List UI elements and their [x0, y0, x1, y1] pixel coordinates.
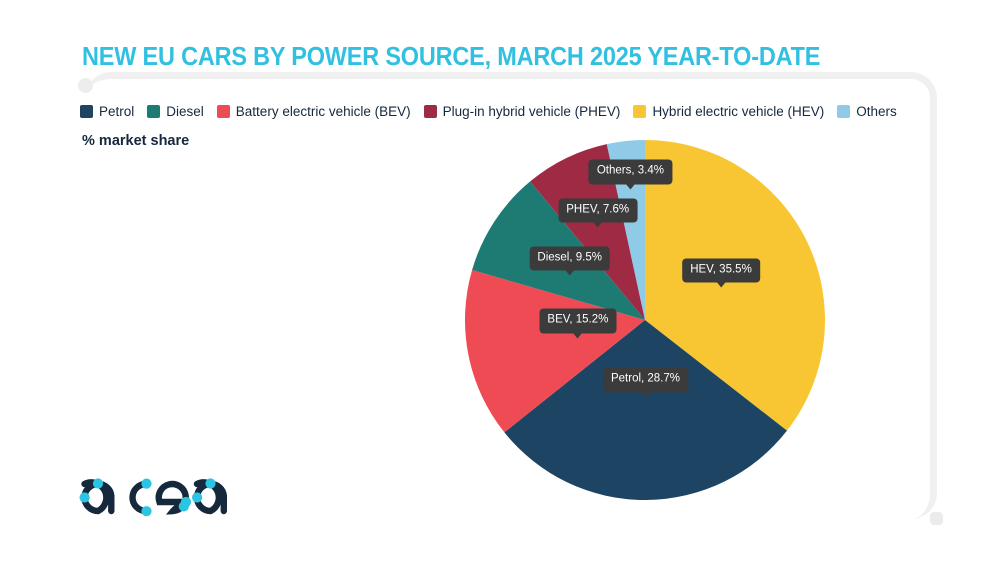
legend-swatch-others: [837, 105, 850, 118]
legend-item-hev[interactable]: Hybrid electric vehicle (HEV): [633, 105, 824, 119]
chart-legend: Petrol Diesel Battery electric vehicle (…: [80, 105, 910, 119]
pie-chart: HEV, 35.5% Petrol, 28.7% BEV, 15.2% Dies…: [465, 140, 825, 500]
pie-label-bev: BEV, 15.2%: [539, 309, 616, 334]
frame-dot-top-left: [78, 78, 93, 93]
legend-label-phev: Plug-in hybrid vehicle (PHEV): [443, 105, 621, 119]
legend-item-bev[interactable]: Battery electric vehicle (BEV): [217, 105, 411, 119]
legend-label-others: Others: [856, 105, 897, 119]
acea-logo: [78, 462, 230, 524]
legend-item-petrol[interactable]: Petrol: [80, 105, 134, 119]
pie-slice-group: [465, 140, 825, 500]
legend-swatch-diesel: [147, 105, 160, 118]
legend-label-diesel: Diesel: [166, 105, 204, 119]
pie-label-phev: PHEV, 7.6%: [558, 198, 637, 223]
pie-label-petrol: Petrol, 28.7%: [603, 368, 688, 393]
legend-label-hev: Hybrid electric vehicle (HEV): [652, 105, 824, 119]
page-title: NEW EU CARS BY POWER SOURCE, MARCH 2025 …: [82, 43, 820, 72]
legend-item-others[interactable]: Others: [837, 105, 897, 119]
pie-label-diesel: Diesel, 9.5%: [529, 246, 610, 271]
legend-label-bev: Battery electric vehicle (BEV): [236, 105, 411, 119]
legend-label-petrol: Petrol: [99, 105, 134, 119]
legend-item-diesel[interactable]: Diesel: [147, 105, 204, 119]
pie-label-others: Others, 3.4%: [589, 160, 672, 185]
frame-dot-bottom-right: [930, 512, 943, 525]
pie-label-hev: HEV, 35.5%: [682, 258, 760, 283]
legend-swatch-bev: [217, 105, 230, 118]
legend-swatch-hev: [633, 105, 646, 118]
legend-item-phev[interactable]: Plug-in hybrid vehicle (PHEV): [424, 105, 621, 119]
chart-subtitle: % market share: [82, 133, 189, 149]
legend-swatch-petrol: [80, 105, 93, 118]
legend-swatch-phev: [424, 105, 437, 118]
pie-chart-svg: [465, 140, 825, 500]
